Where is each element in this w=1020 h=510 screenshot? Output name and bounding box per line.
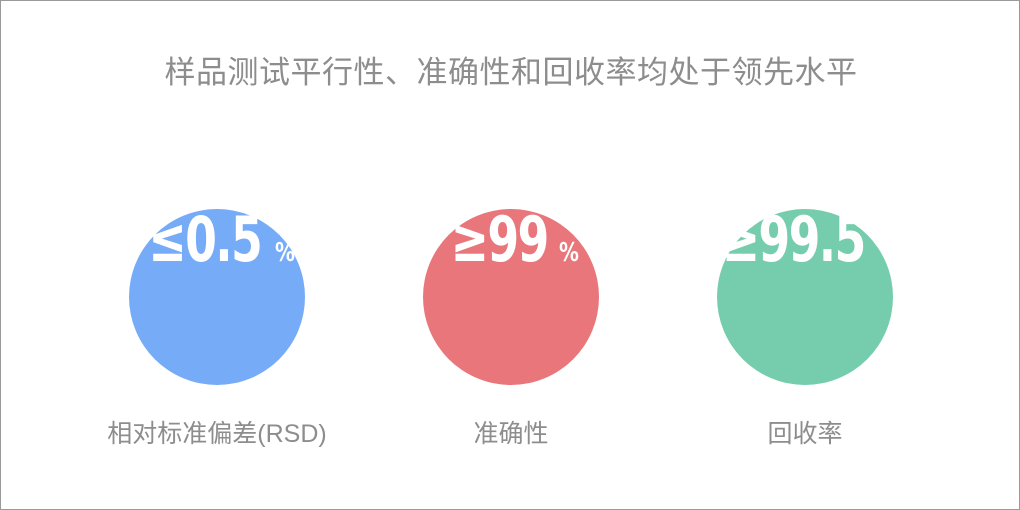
- metric-label-recovery: 回收率: [767, 417, 842, 451]
- metric-bubble-rsd: ≤0.5 %: [129, 209, 305, 385]
- metric-item-accuracy: ≥99 % 准确性: [364, 209, 658, 451]
- metric-unit-recovery: %: [881, 240, 901, 266]
- metric-group: ≤0.5 % 相对标准偏差(RSD) ≥99 % 准确性 ≥99.5 % 回收率: [1, 209, 1020, 451]
- metric-value-accuracy: ≥99: [450, 209, 547, 271]
- metric-item-recovery: ≥99.5 % 回收率: [658, 209, 952, 451]
- metric-item-rsd: ≤0.5 % 相对标准偏差(RSD): [70, 209, 364, 451]
- metric-bubble-recovery: ≥99.5 %: [717, 209, 893, 385]
- page-title: 样品测试平行性、准确性和回收率均处于领先水平: [1, 53, 1020, 93]
- infographic-canvas: 样品测试平行性、准确性和回收率均处于领先水平 ≤0.5 % 相对标准偏差(RSD…: [0, 0, 1020, 510]
- metric-label-accuracy: 准确性: [473, 417, 548, 451]
- metric-unit-accuracy: %: [559, 240, 579, 266]
- metric-bubble-accuracy: ≥99 %: [423, 209, 599, 385]
- metric-unit-rsd: %: [275, 240, 295, 266]
- metric-value-rsd: ≤0.5: [148, 209, 261, 271]
- metric-value-recovery: ≥99.5: [721, 209, 864, 271]
- metric-label-rsd: 相对标准偏差(RSD): [107, 417, 326, 451]
